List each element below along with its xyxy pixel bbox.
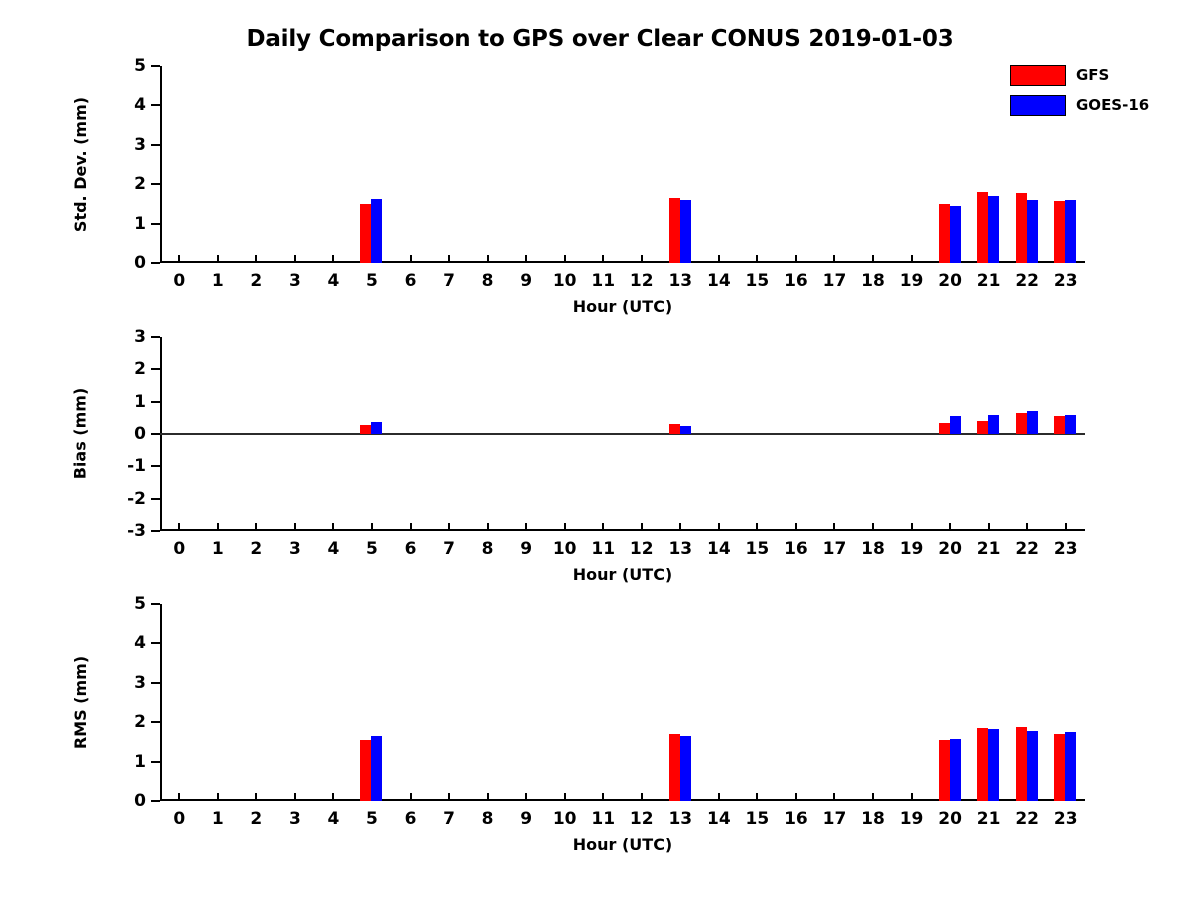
y-axis-tick [151, 465, 160, 467]
x-axis-tick-label: 1 [212, 271, 224, 291]
x-axis-tick [872, 523, 874, 531]
bar-goes-16-hour-5 [371, 736, 382, 801]
bar-gfs-hour-5 [360, 740, 371, 801]
x-axis-tick-label: 23 [1054, 271, 1078, 291]
x-axis-tick [641, 255, 643, 263]
y-axis-tick [151, 262, 160, 264]
y-axis-title: RMS (mm) [71, 604, 90, 801]
plot-area-rms: 0123450123456789101112131415161718192021… [160, 604, 1085, 801]
x-axis-tick [332, 793, 334, 801]
x-axis-tick [602, 523, 604, 531]
bar-gfs-hour-5 [360, 204, 371, 263]
x-axis-tick [911, 523, 913, 531]
y-axis-tick [151, 721, 160, 723]
y-axis-line [160, 66, 162, 263]
x-axis-tick [911, 793, 913, 801]
x-axis-tick-label: 9 [520, 271, 532, 291]
x-axis-title: Hour (UTC) [160, 835, 1085, 854]
x-axis-tick-label: 20 [938, 271, 962, 291]
x-axis-tick [1026, 523, 1028, 531]
bar-gfs-hour-22 [1016, 727, 1027, 801]
x-axis-tick [988, 523, 990, 531]
y-axis-tick-label: 3 [98, 327, 146, 347]
y-axis-tick-label: 4 [98, 95, 146, 115]
x-axis-tick [833, 793, 835, 801]
bar-gfs-hour-13 [669, 198, 680, 263]
x-axis-tick-label: 22 [1015, 539, 1039, 559]
x-axis-tick [564, 523, 566, 531]
y-axis-tick [151, 368, 160, 370]
x-axis-tick-label: 12 [630, 809, 654, 829]
x-axis-tick [525, 255, 527, 263]
x-axis-tick-label: 1 [212, 809, 224, 829]
x-axis-tick-label: 18 [861, 539, 885, 559]
x-axis-tick [641, 793, 643, 801]
bar-gfs-hour-13 [669, 734, 680, 801]
x-axis-tick [178, 523, 180, 531]
bar-gfs-hour-21 [977, 192, 988, 263]
x-axis-tick-label: 6 [405, 539, 417, 559]
x-axis-tick-label: 15 [746, 809, 770, 829]
x-axis-tick-label: 23 [1054, 809, 1078, 829]
x-axis-tick-label: 0 [173, 271, 185, 291]
y-axis-tick [151, 530, 160, 532]
chart-panel-std-dev: 0123450123456789101112131415161718192021… [160, 66, 1085, 263]
x-axis-tick [718, 523, 720, 531]
x-axis-title: Hour (UTC) [160, 297, 1085, 316]
bar-goes-16-hour-13 [680, 200, 691, 263]
y-axis-tick [151, 223, 160, 225]
x-axis-tick [756, 793, 758, 801]
y-axis-tick-label: 0 [98, 253, 146, 273]
x-axis-tick-label: 19 [900, 271, 924, 291]
y-axis-tick-label: 3 [98, 135, 146, 155]
plot-area-std-dev: 0123450123456789101112131415161718192021… [160, 66, 1085, 263]
y-axis-tick-label: -3 [98, 521, 146, 541]
bar-goes-16-hour-21 [988, 196, 999, 263]
x-axis-tick-label: 14 [707, 271, 731, 291]
x-axis-tick-label: 10 [553, 271, 577, 291]
x-axis-tick [255, 793, 257, 801]
x-axis-tick-label: 5 [366, 271, 378, 291]
x-axis-tick-label: 5 [366, 809, 378, 829]
x-axis-tick [833, 255, 835, 263]
x-axis-tick [795, 255, 797, 263]
x-axis-tick-label: 22 [1015, 271, 1039, 291]
bar-goes-16-hour-21 [988, 415, 999, 434]
x-axis-tick-label: 10 [553, 539, 577, 559]
x-axis-tick [332, 523, 334, 531]
x-axis-tick [217, 793, 219, 801]
x-axis-tick [217, 523, 219, 531]
x-axis-tick-label: 3 [289, 539, 301, 559]
y-axis-tick [151, 761, 160, 763]
y-axis-tick [151, 144, 160, 146]
y-axis-tick [151, 498, 160, 500]
x-axis-tick-label: 17 [823, 539, 847, 559]
x-axis-tick-label: 7 [443, 539, 455, 559]
bar-gfs-hour-23 [1054, 734, 1065, 801]
x-axis-tick-label: 4 [328, 271, 340, 291]
x-axis-tick-label: 9 [520, 539, 532, 559]
x-axis-tick [525, 793, 527, 801]
legend-label-goes16: GOES-16 [1076, 96, 1149, 114]
x-axis-tick-label: 3 [289, 271, 301, 291]
y-axis-tick-label: 0 [98, 424, 146, 444]
y-axis-title: Std. Dev. (mm) [71, 66, 90, 263]
y-axis-tick [151, 183, 160, 185]
x-axis-tick-label: 8 [482, 271, 494, 291]
bar-goes-16-hour-5 [371, 422, 382, 434]
bar-goes-16-hour-22 [1027, 200, 1038, 263]
x-axis-tick-label: 16 [784, 539, 808, 559]
y-axis-tick [151, 65, 160, 67]
x-axis-tick [756, 523, 758, 531]
x-axis-tick [294, 793, 296, 801]
y-axis-tick [151, 104, 160, 106]
y-axis-tick [151, 336, 160, 338]
x-axis-tick [756, 255, 758, 263]
x-axis-tick-label: 12 [630, 271, 654, 291]
bar-goes-16-hour-23 [1065, 200, 1076, 263]
x-axis-line [160, 529, 1085, 531]
x-axis-tick [949, 523, 951, 531]
y-axis-tick-label: 2 [98, 174, 146, 194]
y-axis-tick [151, 603, 160, 605]
page-title: Daily Comparison to GPS over Clear CONUS… [0, 26, 1200, 52]
x-axis-tick [410, 793, 412, 801]
x-axis-tick-label: 4 [328, 809, 340, 829]
x-axis-tick-label: 9 [520, 809, 532, 829]
x-axis-tick-label: 8 [482, 539, 494, 559]
x-axis-tick [833, 523, 835, 531]
x-axis-tick-label: 11 [591, 271, 615, 291]
x-axis-tick [410, 523, 412, 531]
x-axis-tick-label: 21 [977, 271, 1001, 291]
bar-gfs-hour-23 [1054, 416, 1065, 434]
x-axis-tick [178, 793, 180, 801]
x-axis-tick-label: 7 [443, 271, 455, 291]
x-axis-tick [487, 793, 489, 801]
x-axis-tick-label: 0 [173, 809, 185, 829]
x-axis-tick-label: 17 [823, 809, 847, 829]
plot-area-bias: -3-2-10123012345678910111213141516171819… [160, 337, 1085, 531]
bar-gfs-hour-21 [977, 421, 988, 434]
bar-gfs-hour-20 [939, 204, 950, 263]
x-axis-tick [602, 793, 604, 801]
bar-gfs-hour-22 [1016, 193, 1027, 263]
x-axis-tick [795, 523, 797, 531]
x-axis-tick-label: 16 [784, 809, 808, 829]
bar-goes-16-hour-20 [950, 206, 961, 263]
y-axis-tick-label: 4 [98, 633, 146, 653]
x-axis-tick [525, 523, 527, 531]
x-axis-tick [718, 255, 720, 263]
x-axis-tick-label: 17 [823, 271, 847, 291]
x-axis-tick [872, 255, 874, 263]
x-axis-tick [487, 523, 489, 531]
x-axis-tick [795, 793, 797, 801]
bar-goes-16-hour-23 [1065, 415, 1076, 434]
x-axis-tick-label: 3 [289, 809, 301, 829]
x-axis-tick [911, 255, 913, 263]
x-axis-tick-label: 19 [900, 809, 924, 829]
x-axis-tick-label: 7 [443, 809, 455, 829]
bar-goes-16-hour-13 [680, 426, 691, 434]
x-axis-tick-label: 15 [746, 539, 770, 559]
x-axis-tick-label: 5 [366, 539, 378, 559]
bar-goes-16-hour-21 [988, 729, 999, 801]
bar-goes-16-hour-5 [371, 199, 382, 263]
y-axis-tick-label: 5 [98, 594, 146, 614]
figure-canvas: Daily Comparison to GPS over Clear CONUS… [0, 0, 1200, 900]
x-axis-tick [487, 255, 489, 263]
x-axis-tick [332, 255, 334, 263]
x-axis-tick-label: 1 [212, 539, 224, 559]
y-axis-tick [151, 433, 160, 435]
x-axis-tick [872, 793, 874, 801]
x-axis-tick-label: 13 [668, 539, 692, 559]
x-axis-tick-label: 18 [861, 271, 885, 291]
x-axis-tick-label: 2 [250, 539, 262, 559]
x-axis-tick [564, 255, 566, 263]
x-axis-tick-label: 2 [250, 809, 262, 829]
bar-goes-16-hour-22 [1027, 731, 1038, 801]
x-axis-tick [679, 523, 681, 531]
y-axis-title: Bias (mm) [71, 337, 90, 531]
x-axis-tick [217, 255, 219, 263]
bar-goes-16-hour-13 [680, 736, 691, 801]
y-axis-tick-label: -1 [98, 456, 146, 476]
x-axis-tick [448, 523, 450, 531]
x-axis-tick-label: 2 [250, 271, 262, 291]
y-axis-tick [151, 682, 160, 684]
x-axis-tick [178, 255, 180, 263]
bar-goes-16-hour-20 [950, 416, 961, 434]
x-axis-tick-label: 0 [173, 539, 185, 559]
chart-panel-rms: 0123450123456789101112131415161718192021… [160, 604, 1085, 801]
bar-gfs-hour-22 [1016, 413, 1027, 434]
bar-goes-16-hour-20 [950, 739, 961, 801]
y-axis-tick-label: 3 [98, 673, 146, 693]
x-axis-tick [255, 523, 257, 531]
x-axis-tick [294, 523, 296, 531]
y-axis-tick-label: 1 [98, 752, 146, 772]
x-axis-tick-label: 14 [707, 539, 731, 559]
x-axis-tick-label: 4 [328, 539, 340, 559]
bar-gfs-hour-13 [669, 424, 680, 434]
x-axis-tick-label: 23 [1054, 539, 1078, 559]
y-axis-tick-label: -2 [98, 489, 146, 509]
bar-gfs-hour-20 [939, 740, 950, 801]
y-axis-tick-label: 0 [98, 791, 146, 811]
x-axis-tick-label: 13 [668, 809, 692, 829]
x-axis-tick-label: 6 [405, 271, 417, 291]
x-axis-tick [294, 255, 296, 263]
x-axis-tick-label: 6 [405, 809, 417, 829]
y-axis-tick [151, 642, 160, 644]
x-axis-tick [641, 523, 643, 531]
x-axis-tick [718, 793, 720, 801]
bar-gfs-hour-21 [977, 728, 988, 801]
x-axis-tick-label: 10 [553, 809, 577, 829]
x-axis-title: Hour (UTC) [160, 565, 1085, 584]
x-axis-tick [602, 255, 604, 263]
y-axis-tick-label: 2 [98, 712, 146, 732]
x-axis-tick-label: 16 [784, 271, 808, 291]
y-axis-tick [151, 401, 160, 403]
x-axis-tick-label: 12 [630, 539, 654, 559]
y-axis-tick-label: 5 [98, 56, 146, 76]
bar-gfs-hour-23 [1054, 201, 1065, 263]
y-axis-tick-label: 1 [98, 214, 146, 234]
x-axis-tick-label: 22 [1015, 809, 1039, 829]
x-axis-tick-label: 11 [591, 539, 615, 559]
y-axis-line [160, 604, 162, 801]
y-axis-tick [151, 800, 160, 802]
chart-panel-bias: -3-2-10123012345678910111213141516171819… [160, 337, 1085, 531]
y-axis-tick-label: 1 [98, 392, 146, 412]
x-axis-tick-label: 18 [861, 809, 885, 829]
x-axis-tick [255, 255, 257, 263]
bar-goes-16-hour-22 [1027, 411, 1038, 434]
x-axis-tick [1065, 523, 1067, 531]
x-axis-tick-label: 11 [591, 809, 615, 829]
y-axis-tick-label: 2 [98, 359, 146, 379]
bar-goes-16-hour-23 [1065, 732, 1076, 801]
x-axis-tick-label: 20 [938, 539, 962, 559]
x-axis-tick-label: 20 [938, 809, 962, 829]
x-axis-tick [564, 793, 566, 801]
x-axis-tick-label: 21 [977, 809, 1001, 829]
x-axis-tick-label: 13 [668, 271, 692, 291]
x-axis-tick [410, 255, 412, 263]
bar-gfs-hour-5 [360, 425, 371, 434]
x-axis-tick [448, 793, 450, 801]
x-axis-tick-label: 19 [900, 539, 924, 559]
bar-gfs-hour-20 [939, 423, 950, 434]
x-axis-tick [448, 255, 450, 263]
x-axis-tick-label: 15 [746, 271, 770, 291]
x-axis-tick [371, 523, 373, 531]
x-axis-tick-label: 21 [977, 539, 1001, 559]
x-axis-tick-label: 14 [707, 809, 731, 829]
x-axis-tick-label: 8 [482, 809, 494, 829]
